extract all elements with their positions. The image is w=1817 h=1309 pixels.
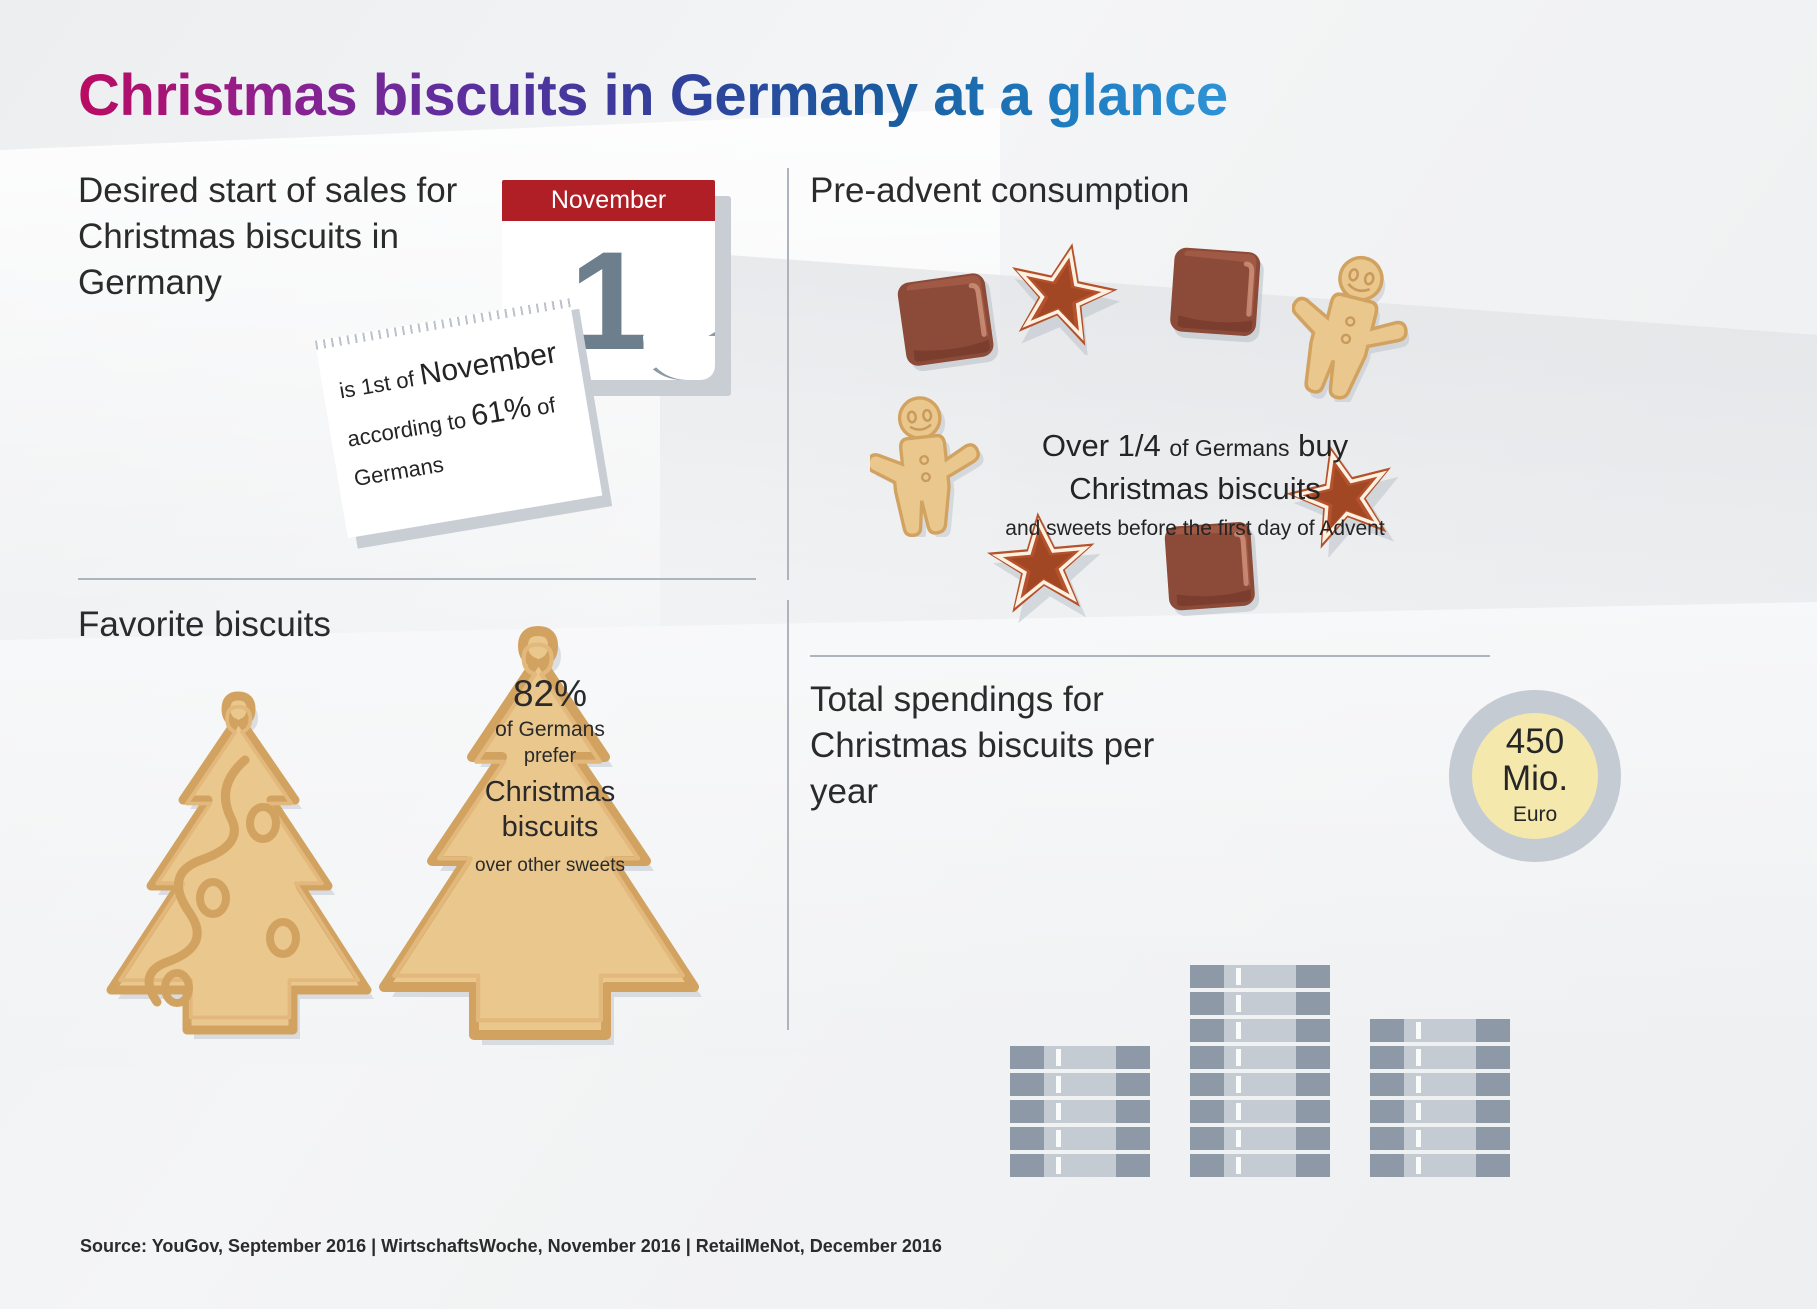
banknote-middle — [1044, 1073, 1117, 1096]
banknote-fold-gap — [1416, 1157, 1421, 1174]
banknote-edge-right — [1116, 1127, 1150, 1150]
banknote — [1190, 992, 1330, 1015]
note-percent-value: 61% — [469, 390, 534, 432]
banknote-edge-right — [1296, 1154, 1330, 1177]
banknote-middle — [1224, 1100, 1297, 1123]
banknote — [1010, 1100, 1150, 1123]
banknote-edge-right — [1476, 1154, 1510, 1177]
banknote — [1190, 1073, 1330, 1096]
banknote-middle — [1044, 1154, 1117, 1177]
banknote-middle — [1224, 1019, 1297, 1042]
favorite-biscuits-statistic-text: 82% of Germans prefer Christmas biscuits… — [455, 670, 645, 878]
banknote — [1190, 1046, 1330, 1069]
source-footnote: Source: YouGov, September 2016 | Wirtsch… — [80, 1236, 942, 1257]
banknote — [1010, 1127, 1150, 1150]
favorite-line2: prefer — [455, 744, 645, 770]
preadvent-line1-small: of Germans — [1169, 435, 1289, 461]
banknote-stack-3 — [1370, 1019, 1510, 1177]
banknote-edge-right — [1296, 1019, 1330, 1042]
banknote-edge-left — [1190, 1019, 1224, 1042]
preadvent-line1-a: Over 1/4 — [1042, 428, 1170, 463]
banknote-fold-gap — [1236, 1076, 1241, 1093]
banknote-fold-gap — [1236, 1103, 1241, 1120]
chocolate-square-cookie-icon — [1160, 238, 1275, 353]
banknote-edge-left — [1010, 1154, 1044, 1177]
banknote-edge-right — [1116, 1154, 1150, 1177]
banknote-edge-right — [1116, 1046, 1150, 1069]
divider-horizontal-right — [810, 655, 1490, 657]
gingerbread-man-cookie-icon — [1292, 252, 1412, 402]
banknote-middle — [1224, 1073, 1297, 1096]
banknote-middle — [1404, 1046, 1477, 1069]
infographic-canvas: Christmas biscuits in Germany at a glanc… — [0, 0, 1817, 1309]
banknote-edge-left — [1190, 1154, 1224, 1177]
banknote-edge-left — [1190, 1127, 1224, 1150]
banknote-middle — [1044, 1100, 1117, 1123]
banknote-middle — [1404, 1019, 1477, 1042]
preadvent-line2: Christmas biscuits — [1000, 468, 1390, 511]
banknote-edge-left — [1190, 1100, 1224, 1123]
divider-vertical-bottom — [787, 600, 789, 1030]
banknote-fold-gap — [1236, 1022, 1241, 1039]
section-heading-pre-advent-consumption: Pre-advent consumption — [810, 168, 1189, 214]
banknote-fold-gap — [1056, 1103, 1061, 1120]
banknote-middle — [1224, 1154, 1297, 1177]
banknote — [1190, 965, 1330, 988]
banknote — [1370, 1100, 1510, 1123]
banknote-stack-chart — [1010, 945, 1490, 1177]
divider-horizontal-left — [78, 578, 756, 580]
banknote-edge-left — [1010, 1046, 1044, 1069]
coin-face: 450 Mio. Euro — [1472, 713, 1598, 839]
banknote-fold-gap — [1056, 1130, 1061, 1147]
banknote-middle — [1044, 1127, 1117, 1150]
banknote-fold-gap — [1416, 1130, 1421, 1147]
section-heading-favorite-biscuits: Favorite biscuits — [78, 602, 331, 648]
banknote-edge-right — [1476, 1073, 1510, 1096]
note-text: is 1st of November according to 61% of G… — [335, 328, 582, 497]
banknote-edge-left — [1010, 1100, 1044, 1123]
chocolate-square-cookie-icon — [890, 265, 1010, 380]
banknote-middle — [1404, 1127, 1477, 1150]
banknote-edge-left — [1370, 1073, 1404, 1096]
banknote-middle — [1404, 1073, 1477, 1096]
banknote-fold-gap — [1236, 1157, 1241, 1174]
banknote-edge-right — [1476, 1127, 1510, 1150]
banknote-fold-gap — [1416, 1022, 1421, 1039]
preadvent-line3: and sweets before the first day of Adven… — [1000, 513, 1390, 545]
banknote — [1190, 1019, 1330, 1042]
preadvent-line1-b: buy — [1290, 428, 1349, 463]
banknote-fold-gap — [1236, 1130, 1241, 1147]
coin-unit: Mio. — [1502, 760, 1568, 799]
banknote-edge-right — [1116, 1073, 1150, 1096]
banknote — [1190, 1127, 1330, 1150]
banknote — [1370, 1154, 1510, 1177]
page-title: Christmas biscuits in Germany at a glanc… — [78, 62, 1228, 129]
banknote-middle — [1404, 1100, 1477, 1123]
banknote-fold-gap — [1236, 1049, 1241, 1066]
banknote-edge-left — [1010, 1127, 1044, 1150]
banknote-edge-right — [1296, 1046, 1330, 1069]
banknote-edge-right — [1476, 1100, 1510, 1123]
banknote-fold-gap — [1236, 968, 1241, 985]
note-paper: is 1st of November according to 61% of G… — [315, 298, 602, 538]
banknote-fold-gap — [1416, 1103, 1421, 1120]
coin-currency: Euro — [1513, 801, 1557, 828]
favorite-line1: of Germans — [455, 717, 645, 744]
banknote-edge-right — [1476, 1019, 1510, 1042]
favorite-percent-value: 82% — [455, 670, 645, 717]
banknote-stack-2 — [1190, 965, 1330, 1177]
banknote-edge-right — [1296, 1127, 1330, 1150]
section-heading-total-spendings: Total spendings for Christmas biscuits p… — [810, 677, 1190, 816]
banknote-edge-left — [1190, 1046, 1224, 1069]
banknote-edge-right — [1296, 1100, 1330, 1123]
banknote-edge-right — [1476, 1046, 1510, 1069]
banknote-fold-gap — [1056, 1076, 1061, 1093]
banknote — [1370, 1127, 1510, 1150]
coin-value: 450 — [1506, 724, 1564, 760]
banknote-edge-left — [1370, 1019, 1404, 1042]
banknote-middle — [1224, 965, 1297, 988]
gingerbread-star-cookie-icon — [1000, 230, 1125, 355]
banknote-fold-gap — [1416, 1049, 1421, 1066]
banknote-edge-right — [1296, 965, 1330, 988]
banknote-edge-left — [1190, 1073, 1224, 1096]
divider-vertical-top — [787, 168, 789, 580]
favorite-line4: over other sweets — [455, 854, 645, 878]
banknote-edge-left — [1010, 1073, 1044, 1096]
euro-coin-badge: 450 Mio. Euro — [1449, 690, 1621, 862]
banknote-edge-left — [1370, 1100, 1404, 1123]
banknote-middle — [1224, 1046, 1297, 1069]
section-heading-desired-start-of-sales: Desired start of sales for Christmas bis… — [78, 168, 498, 307]
note-line2-suffix: of — [529, 392, 557, 421]
banknote-edge-right — [1116, 1100, 1150, 1123]
banknote — [1010, 1046, 1150, 1069]
banknote-middle — [1404, 1154, 1477, 1177]
banknote-stack-1 — [1010, 1046, 1150, 1177]
banknote-middle — [1224, 1127, 1297, 1150]
banknote-edge-left — [1370, 1127, 1404, 1150]
banknote-middle — [1044, 1046, 1117, 1069]
gingerbread-man-cookie-icon — [870, 392, 985, 537]
banknote-edge-left — [1190, 965, 1224, 988]
favorite-line3: Christmas biscuits — [455, 775, 645, 846]
pre-advent-statistic-text: Over 1/4 of Germans buy Christmas biscui… — [1000, 425, 1390, 544]
banknote — [1370, 1073, 1510, 1096]
banknote-middle — [1224, 992, 1297, 1015]
note-line1-prefix: is 1st of — [337, 365, 422, 403]
banknote — [1370, 1019, 1510, 1042]
banknote — [1190, 1100, 1330, 1123]
banknote-edge-left — [1190, 992, 1224, 1015]
banknote — [1370, 1046, 1510, 1069]
banknote-edge-left — [1370, 1154, 1404, 1177]
torn-note-illustration: is 1st of November according to 61% of G… — [315, 298, 605, 543]
christmas-tree-cookie-decorated-icon — [95, 690, 385, 1055]
banknote — [1010, 1073, 1150, 1096]
banknote — [1190, 1154, 1330, 1177]
banknote-fold-gap — [1416, 1076, 1421, 1093]
banknote-fold-gap — [1056, 1157, 1061, 1174]
banknote-edge-right — [1296, 1073, 1330, 1096]
banknote-edge-left — [1370, 1046, 1404, 1069]
banknote-fold-gap — [1236, 995, 1241, 1012]
calendar-month-label: November — [502, 180, 715, 221]
banknote — [1010, 1154, 1150, 1177]
banknote-fold-gap — [1056, 1049, 1061, 1066]
banknote-edge-right — [1296, 992, 1330, 1015]
